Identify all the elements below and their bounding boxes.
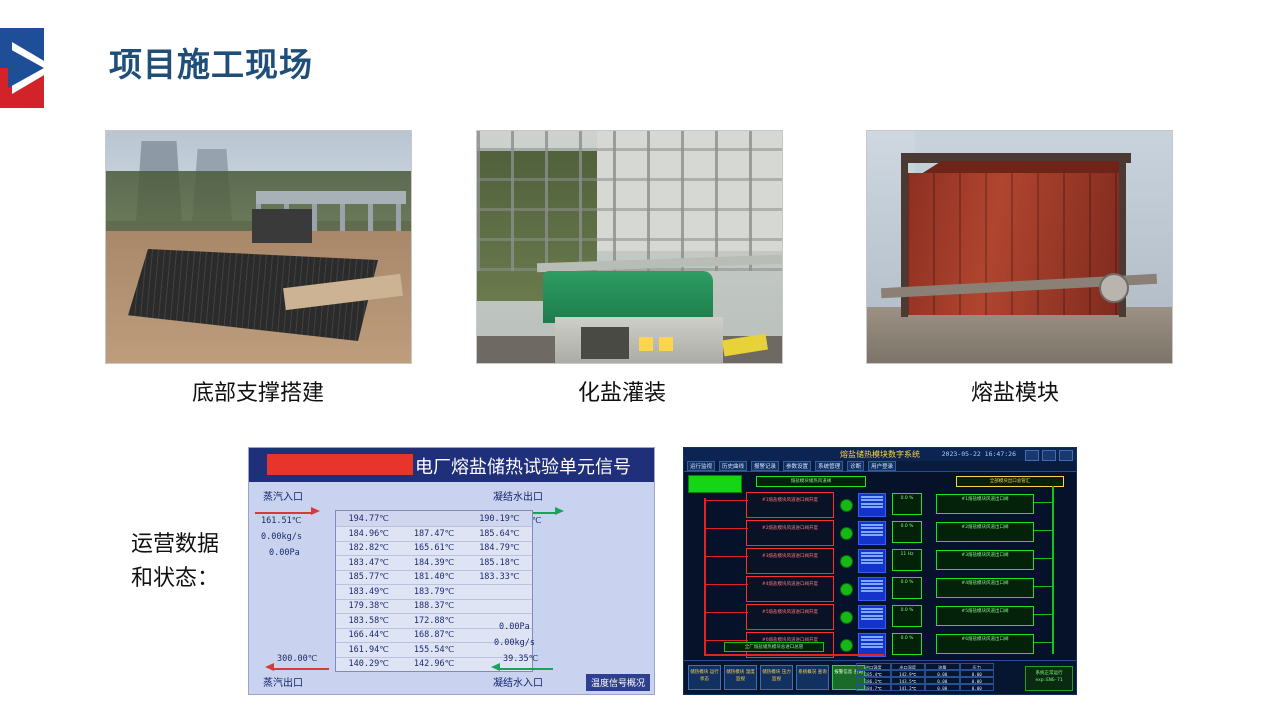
hmi1-condensate-outlet-arrow-head: [555, 507, 564, 515]
photo2-equipment-opening: [581, 327, 629, 359]
hmi2-row4-value: 0.0 %: [892, 577, 922, 599]
hmi1-cell-r4c2: 183.33℃: [467, 572, 532, 582]
hmi2-menu-item-3[interactable]: 参数设置: [783, 461, 811, 471]
hmi2-red-branch-1: [704, 500, 748, 501]
hmi2-red-branch-3: [704, 556, 748, 557]
hmi1-title-bar: 电厂熔盐储热试验单元信号: [249, 448, 654, 482]
hmi1-cell-r2c2: 184.79℃: [467, 543, 532, 553]
hmi2-green-branch-6: [1034, 642, 1054, 643]
hmi2-menu-bar: 运行监视 历史曲线 报警记录 参数设置 系统管理 诊断 用户登录: [684, 461, 1076, 472]
hmi2-menu-item-6[interactable]: 用户登录: [868, 461, 896, 471]
hmi2-row5-red-box: #5熔盐模块风道进口阀开度: [746, 604, 834, 630]
hmi2-ft-r3c0: 184.7℃: [856, 684, 891, 691]
hmi-screenshot-module-system: 熔盐储热模块数字系统 2023-05-22 16:47:26 运行监视 历史曲线…: [683, 447, 1077, 695]
hmi1-cell-r9c1: 155.54℃: [401, 645, 466, 655]
hmi2-red-branch-2: [704, 528, 748, 529]
hmi1-left-value-3: 0.00Pa: [269, 548, 300, 558]
hmi1-cell-r5c1: 183.79℃: [401, 587, 466, 597]
hmi2-footer-button-2[interactable]: 储热模块 压力监视: [760, 665, 793, 690]
hmi2-row2-red-label: #2熔盐模块风道进口阀开度: [747, 521, 833, 532]
hmi2-ft-r0c1: 出口温度: [891, 663, 926, 670]
hmi2-footer-button-1[interactable]: 储热模块 温度监视: [724, 665, 757, 690]
hmi1-steam-outlet-arrow-head: [265, 663, 274, 671]
hmi2-module-row-2: #2熔盐模块风道进口阀开度 0.0 % #2熔盐模块风道出口阀: [746, 520, 1046, 546]
hmi2-row3-valve-icon[interactable]: [840, 555, 853, 568]
photo-salt-filling: [476, 130, 783, 364]
hmi1-temperature-chip: 温度信号概况: [586, 674, 650, 691]
hmi2-green-branch-1: [1034, 502, 1054, 503]
hmi2-row5-green-label: #5熔盐模块风道出口阀: [936, 606, 1034, 626]
hmi1-cell-r1c2: 185.64℃: [467, 529, 532, 539]
hmi2-clock: 2023-05-22 16:47:26: [942, 450, 1016, 458]
table-row: 185.77℃ 181.40℃ 183.33℃: [336, 571, 532, 586]
hmi2-red-branch-4: [704, 584, 748, 585]
hmi1-left-bottom-value: 300.00℃: [277, 654, 317, 664]
maximize-icon[interactable]: [1042, 450, 1056, 461]
hmi2-bottom-left-label: 全厂熔盐储热模块总进口总管: [724, 642, 824, 652]
hmi2-row2-module: [858, 521, 886, 545]
hmi2-footer-button-0[interactable]: 储热模块 运行状态: [688, 665, 721, 690]
hmi1-cell-r2c0: 182.82℃: [336, 543, 401, 553]
hmi2-row4-green-label: #4熔盐模块风道出口阀: [936, 578, 1034, 598]
hmi2-ft-r2c0: 186.1℃: [856, 677, 891, 684]
hmi1-cell-r9c0: 161.94℃: [336, 645, 401, 655]
hmi2-row5-valve-icon[interactable]: [840, 611, 853, 624]
hmi2-ft-r2c3: 0.00: [960, 677, 995, 684]
hmi2-row3-green-label: #3熔盐模块风道出口阀: [936, 550, 1034, 570]
table-row: 179.38℃ 188.37℃: [336, 600, 532, 615]
photo3-ground: [867, 307, 1172, 363]
hmi2-row2-red-box: #2熔盐模块风道进口阀开度: [746, 520, 834, 546]
hmi1-right-bottom-value-1: 0.00Pa: [499, 622, 530, 632]
operations-data-label-line1: 运营数据: [100, 528, 250, 562]
hmi2-title: 熔盐储热模块数字系统: [684, 449, 1076, 460]
hmi-screenshot-signal-overview: 电厂熔盐储热试验单元信号 蒸汽入口 161.51℃ 0.00kg/s 0.00P…: [248, 447, 655, 695]
photo2-warning-label-2: [659, 337, 673, 351]
hmi2-right-header: 全部模块出口总管汇: [956, 476, 1064, 487]
hmi2-footer-table: 进口温度 出口温度 流量 压力 185.4℃ 142.9℃ 0.00 0.00 …: [856, 663, 994, 691]
hmi1-steam-outlet-label: 蒸汽出口: [263, 674, 303, 689]
hmi1-condensate-inlet-arrow-line: [497, 668, 553, 670]
hmi2-module-row-4: #4熔盐模块风道进口阀开度 0.0 % #4熔盐模块风道出口阀: [746, 576, 1046, 602]
hmi2-module-row-1: #1熔盐模块风道进口阀开度 0.0 % #1熔盐模块风道出口阀: [746, 492, 1046, 518]
minimize-icon[interactable]: [1025, 450, 1039, 461]
hmi2-ft-r3c2: 0.00: [925, 684, 960, 691]
hmi2-row2-green-label: #2熔盐模块风道出口阀: [936, 522, 1034, 542]
hmi2-ft-r3c3: 0.00: [960, 684, 995, 691]
hmi2-row1-red-label: #1熔盐模块风道进口阀开度: [747, 493, 833, 504]
hmi1-redaction-block: [267, 454, 413, 475]
hmi2-red-branch-5: [704, 612, 748, 613]
hmi1-left-value-2: 0.00kg/s: [261, 532, 302, 542]
hmi2-row6-green-label: #6熔盐模块风道出口阀: [936, 634, 1034, 654]
hmi2-row4-valve-icon[interactable]: [840, 583, 853, 596]
hmi2-ft-r1c0: 185.4℃: [856, 670, 891, 677]
hmi2-red-bottom-main: [704, 654, 884, 656]
hmi2-row4-red-label: #4熔盐模块风道进口阀开度: [747, 577, 833, 588]
hmi2-menu-item-2[interactable]: 报警记录: [751, 461, 779, 471]
hmi2-row6-valve-icon[interactable]: [840, 639, 853, 652]
hmi2-green-branch-3: [1034, 558, 1054, 559]
hmi2-green-branch-2: [1034, 530, 1054, 531]
hmi2-ft-r0c0: 进口温度: [856, 663, 891, 670]
hmi2-row5-module: [858, 605, 886, 629]
close-icon[interactable]: [1059, 450, 1073, 461]
hmi2-row3-red-label: #3熔盐模块风道进口阀开度: [747, 549, 833, 560]
hmi1-steam-outlet-arrow-line: [271, 668, 329, 670]
hmi2-row2-value: 0.0 %: [892, 521, 922, 543]
hmi2-module-row-3: #3熔盐模块风道进口阀开度 11 Hz #3熔盐模块风道出口阀: [746, 548, 1046, 574]
hmi2-red-branch-6: [704, 640, 748, 641]
table-row: 182.82℃ 165.61℃ 184.79℃: [336, 542, 532, 557]
photo2-warning-label-1: [639, 337, 653, 351]
hmi2-menu-item-1[interactable]: 历史曲线: [719, 461, 747, 471]
photo-row: [0, 130, 1280, 370]
hmi1-cell-r10c0: 140.29℃: [336, 659, 401, 669]
hmi1-cell-r8c1: 168.87℃: [401, 630, 466, 640]
hmi2-row1-valve-icon[interactable]: [840, 499, 853, 512]
hmi2-green-branch-5: [1034, 614, 1054, 615]
caption-photo-1: 底部支撑搭建: [98, 375, 418, 407]
photo1-container: [252, 209, 312, 243]
hmi2-row1-module: [858, 493, 886, 517]
hmi2-ft-r1c3: 0.00: [960, 670, 995, 677]
hmi1-cell-r5c0: 183.49℃: [336, 587, 401, 597]
hmi2-ft-r2c2: 0.00: [925, 677, 960, 684]
hmi2-row5-value: 0.0 %: [892, 605, 922, 627]
hmi2-green-header-line: [1052, 486, 1054, 654]
hmi1-cell-r0c0: 194.77℃: [336, 514, 401, 524]
operations-data-label-line2: 和状态：: [100, 562, 250, 596]
hmi2-row2-valve-icon[interactable]: [840, 527, 853, 540]
caption-photo-3: 熔盐模块: [855, 375, 1175, 407]
hmi1-steam-inlet-label: 蒸汽入口: [263, 488, 303, 503]
hmi2-ft-r0c2: 流量: [925, 663, 960, 670]
hmi1-right-bottom-value-3: 39.35℃: [503, 654, 538, 664]
hmi2-menu-item-5[interactable]: 诊断: [847, 461, 864, 471]
hmi1-cell-r10c1: 142.96℃: [401, 659, 466, 669]
hmi2-ft-r2c1: 143.5℃: [891, 677, 926, 684]
hmi2-row1-red-box: #1熔盐模块风道进口阀开度: [746, 492, 834, 518]
hmi1-cell-r4c1: 181.40℃: [401, 572, 466, 582]
photo3-valve-wheel-icon: [1099, 273, 1129, 303]
logo-arrow-inner-icon: [8, 48, 44, 88]
hmi2-ft-r1c1: 142.9℃: [891, 670, 926, 677]
hmi2-ft-r0c3: 压力: [960, 663, 995, 670]
hmi2-green-branch-4: [1034, 586, 1054, 587]
hmi1-cell-r7c0: 183.58℃: [336, 616, 401, 626]
table-row: 186.1℃ 143.5℃ 0.00 0.00: [856, 677, 994, 684]
hmi1-cell-r3c1: 184.39℃: [401, 558, 466, 568]
photo2-scaffold-horizontal: [477, 131, 782, 271]
hmi2-top-green-label: 熔盐模块储热风道阀: [756, 476, 866, 487]
photo-bottom-support: [105, 130, 412, 364]
hmi1-condensate-outlet-label: 凝结水出口: [493, 488, 543, 503]
table-row: 185.4℃ 142.9℃ 0.00 0.00: [856, 670, 994, 677]
hmi2-footer-button-3[interactable]: 系统概况 查询: [796, 665, 829, 690]
hmi2-row4-module: [858, 577, 886, 601]
hmi2-menu-item-0[interactable]: 运行监视: [687, 461, 715, 471]
table-row: 183.49℃ 183.79℃: [336, 585, 532, 600]
table-row: 184.7℃ 141.2℃ 0.00 0.00: [856, 684, 994, 691]
table-row: 184.96℃ 187.47℃ 185.64℃: [336, 527, 532, 542]
hmi1-cell-r0c2: 190.19℃: [467, 514, 532, 524]
hmi1-cell-r2c1: 165.61℃: [401, 543, 466, 553]
hmi1-steam-inlet-arrow-head: [311, 507, 320, 515]
hmi2-row1-value: 0.0 %: [892, 493, 922, 515]
hmi1-condensate-inlet-label: 凝结水入口: [493, 674, 543, 689]
hmi1-title: 电厂熔盐储热试验单元信号: [415, 453, 631, 479]
hmi1-cell-r6c0: 179.38℃: [336, 601, 401, 611]
hmi1-cell-r3c0: 183.47℃: [336, 558, 401, 568]
hmi2-module-row-5: #5熔盐模块风道进口阀开度 0.0 % #5熔盐模块风道出口阀: [746, 604, 1046, 630]
hmi2-red-header-line: [704, 498, 706, 656]
hmi1-right-bottom-value-2: 0.00kg/s: [494, 638, 535, 648]
table-row: 183.47℃ 184.39℃ 185.18℃: [336, 556, 532, 571]
hmi2-row4-red-box: #4熔盐模块风道进口阀开度: [746, 576, 834, 602]
hmi1-cell-r7c1: 172.88℃: [401, 616, 466, 626]
hmi2-ft-r1c2: 0.00: [925, 670, 960, 677]
hmi1-cell-r4c0: 185.77℃: [336, 572, 401, 582]
hmi2-row3-red-box: #3熔盐模块风道进口阀开度: [746, 548, 834, 574]
photo1-pipe-bridge: [256, 191, 406, 204]
hmi2-row3-module: [858, 549, 886, 573]
operations-data-label: 运营数据 和状态：: [100, 528, 250, 596]
table-row: 进口温度 出口温度 流量 压力: [856, 663, 994, 670]
hmi2-row1-green-label: #1熔盐模块风道出口阀: [936, 494, 1034, 514]
hmi2-mimic-canvas: 熔盐模块储热风道阀 全部模块出口总管汇 #1熔盐模块风道进口阀开度 0.0 % …: [684, 472, 1076, 668]
hmi1-cell-r6c1: 188.37℃: [401, 601, 466, 611]
hmi1-condensate-inlet-arrow-head: [491, 663, 500, 671]
page-title: 项目施工现场: [109, 38, 313, 86]
hmi1-steam-inlet-arrow-line: [255, 512, 313, 514]
hmi2-ft-r3c1: 141.2℃: [891, 684, 926, 691]
hmi2-row3-value: 11 Hz: [892, 549, 922, 571]
hmi2-row5-red-label: #5熔盐模块风道进口阀开度: [747, 605, 833, 616]
hmi1-cell-r1c1: 187.47℃: [401, 529, 466, 539]
brand-logo: [0, 28, 62, 108]
hmi1-left-value-1: 161.51℃: [261, 516, 301, 526]
table-row: 194.77℃ 190.19℃: [336, 511, 532, 527]
hmi1-body: 蒸汽入口 161.51℃ 0.00kg/s 0.00Pa 凝结水出口 110.7…: [249, 482, 654, 694]
hmi2-window-buttons: [1025, 450, 1073, 461]
caption-photo-2: 化盐灌装: [462, 375, 782, 407]
hmi2-footer: 储热模块 运行状态 储热模块 温度监视 储热模块 压力监视 系统概况 查询 报警…: [684, 660, 1076, 694]
photo-salt-module: [866, 130, 1173, 364]
hmi1-cell-r1c0: 184.96℃: [336, 529, 401, 539]
hmi2-status-box: 系统正常运行 exp:ENG-71: [1025, 666, 1073, 691]
photo2-green-tarp: [543, 271, 713, 323]
hmi2-menu-item-4[interactable]: 系统管理: [815, 461, 843, 471]
hmi1-cell-r8c0: 166.44℃: [336, 630, 401, 640]
hmi1-cell-r3c2: 185.18℃: [467, 558, 532, 568]
hmi2-row6-value: 0.0 %: [892, 633, 922, 655]
